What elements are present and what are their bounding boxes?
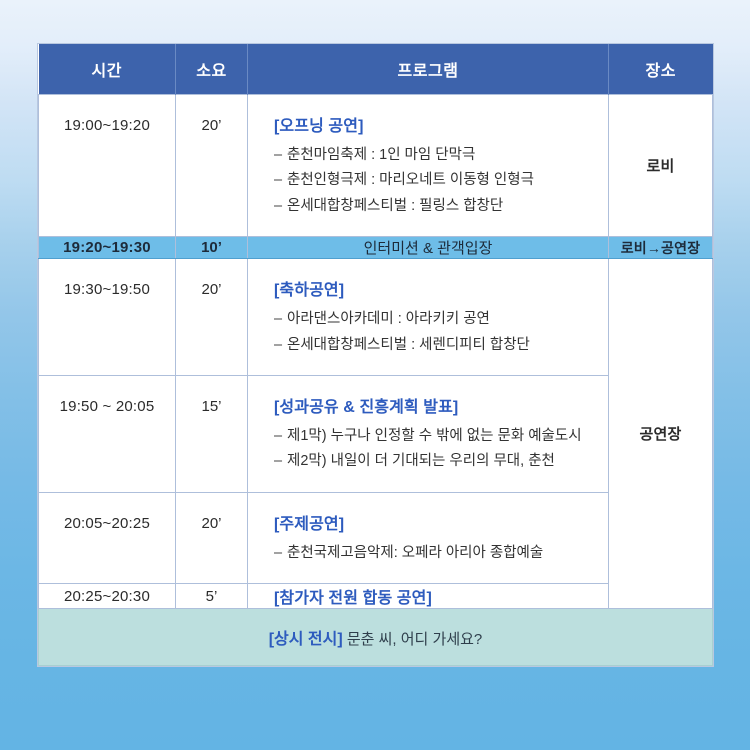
event-schedule-table: 시간 소요 프로그램 장소 19:00~19:20 20’ [오프닝 공연] 춘… bbox=[38, 44, 713, 666]
cell-place-lobby: 로비 bbox=[609, 95, 713, 237]
program-item-list: 춘천마임축제 : 1인 마임 단막극 춘천인형극제 : 마리오네트 이동형 인형… bbox=[274, 143, 608, 219]
page-background: 시간 소요 프로그램 장소 19:00~19:20 20’ [오프닝 공연] 춘… bbox=[0, 0, 750, 750]
cell-place-transition: 로비→공연장 bbox=[609, 237, 713, 259]
cell-time: 19:20~19:30 bbox=[39, 237, 176, 259]
cell-time: 19:00~19:20 bbox=[39, 95, 176, 237]
cell-duration: 20’ bbox=[176, 95, 248, 237]
cell-time: 19:50 ~ 20:05 bbox=[39, 375, 176, 492]
table-footer: [상시 전시] 문춘 씨, 어디 가세요? bbox=[39, 609, 713, 666]
table-body: 19:00~19:20 20’ [오프닝 공연] 춘천마임축제 : 1인 마임 … bbox=[39, 95, 713, 609]
cell-program: [성과공유 & 진흥계획 발표] 제1막) 누구나 인정할 수 밖에 없는 문화… bbox=[248, 375, 609, 492]
program-item: 제1막) 누구나 인정할 수 밖에 없는 문화 예술도시 bbox=[274, 424, 608, 449]
table-row: 19:30~19:50 20’ [축하공연] 아라댄스아카데미 : 아라키키 공… bbox=[39, 259, 713, 376]
schedule-container: 시간 소요 프로그램 장소 19:00~19:20 20’ [오프닝 공연] 춘… bbox=[38, 44, 712, 666]
footer-label: [상시 전시] bbox=[269, 631, 343, 648]
program-item: 춘천마임축제 : 1인 마임 단막극 bbox=[274, 143, 608, 168]
program-item: 춘천국제고음악제: 오페라 아리아 종합예술 bbox=[274, 541, 608, 566]
program-title: [주제공연] bbox=[274, 510, 608, 534]
table-row: 19:00~19:20 20’ [오프닝 공연] 춘천마임축제 : 1인 마임 … bbox=[39, 95, 713, 237]
cell-program: [오프닝 공연] 춘천마임축제 : 1인 마임 단막극 춘천인형극제 : 마리오… bbox=[248, 95, 609, 237]
cell-time: 20:25~20:30 bbox=[39, 584, 176, 609]
program-title: [오프닝 공연] bbox=[274, 112, 608, 136]
footer-row: [상시 전시] 문춘 씨, 어디 가세요? bbox=[39, 609, 713, 666]
column-header-program: 프로그램 bbox=[248, 44, 609, 95]
program-item-list: 제1막) 누구나 인정할 수 밖에 없는 문화 예술도시 제2막) 내일이 더 … bbox=[274, 424, 608, 475]
cell-program: [참가자 전원 합동 공연] bbox=[248, 584, 609, 609]
program-item: 춘천인형극제 : 마리오네트 이동형 인형극 bbox=[274, 168, 608, 193]
column-header-time: 시간 bbox=[39, 44, 176, 95]
program-item: 온세대합창페스티벌 : 필링스 합창단 bbox=[274, 194, 608, 219]
cell-program: [축하공연] 아라댄스아카데미 : 아라키키 공연 온세대합창페스티벌 : 세렌… bbox=[248, 259, 609, 376]
column-header-place: 장소 bbox=[609, 44, 713, 95]
cell-program: [주제공연] 춘천국제고음악제: 오페라 아리아 종합예술 bbox=[248, 492, 609, 583]
table-row-intermission: 19:20~19:30 10’ 인터미션 & 관객입장 로비→공연장 bbox=[39, 237, 713, 259]
cell-place-hall: 공연장 bbox=[609, 259, 713, 609]
cell-duration: 15’ bbox=[176, 375, 248, 492]
cell-program-intermission: 인터미션 & 관객입장 bbox=[248, 237, 609, 259]
program-item: 온세대합창페스티벌 : 세렌디피티 합창단 bbox=[274, 333, 608, 358]
program-title: [성과공유 & 진흥계획 발표] bbox=[274, 393, 608, 417]
cell-duration: 20’ bbox=[176, 492, 248, 583]
header-row: 시간 소요 프로그램 장소 bbox=[39, 44, 713, 95]
program-title: [축하공연] bbox=[274, 276, 608, 300]
program-title: [참가자 전원 합동 공연] bbox=[274, 584, 608, 608]
permanent-exhibition-note: [상시 전시] 문춘 씨, 어디 가세요? bbox=[39, 609, 713, 666]
column-header-duration: 소요 bbox=[176, 44, 248, 95]
program-item-list: 아라댄스아카데미 : 아라키키 공연 온세대합창페스티벌 : 세렌디피티 합창단 bbox=[274, 307, 608, 358]
table-header: 시간 소요 프로그램 장소 bbox=[39, 44, 713, 95]
program-item: 제2막) 내일이 더 기대되는 우리의 무대, 춘천 bbox=[274, 449, 608, 474]
program-item-list: 춘천국제고음악제: 오페라 아리아 종합예술 bbox=[274, 541, 608, 566]
cell-duration: 10’ bbox=[176, 237, 248, 259]
program-item: 아라댄스아카데미 : 아라키키 공연 bbox=[274, 307, 608, 332]
cell-duration: 5’ bbox=[176, 584, 248, 609]
footer-text: 문춘 씨, 어디 가세요? bbox=[343, 631, 483, 648]
cell-duration: 20’ bbox=[176, 259, 248, 376]
cell-time: 19:30~19:50 bbox=[39, 259, 176, 376]
cell-time: 20:05~20:25 bbox=[39, 492, 176, 583]
